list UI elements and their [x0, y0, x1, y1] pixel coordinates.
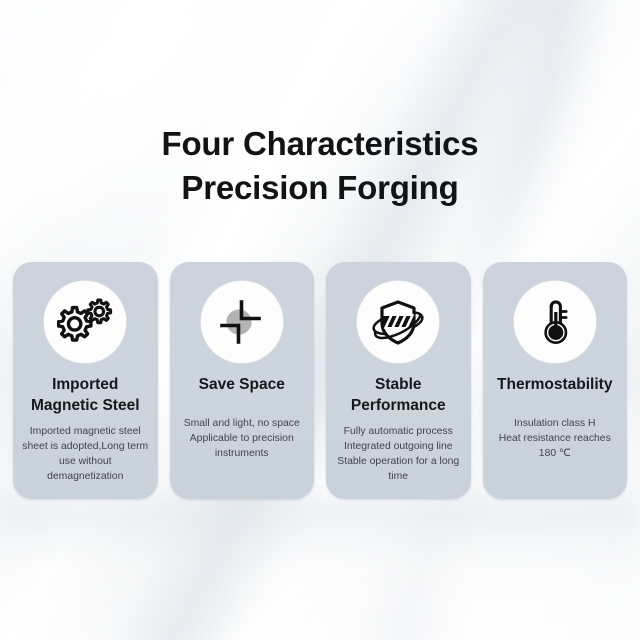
icon-badge [514, 281, 596, 363]
page-title: Four Characteristics Precision Forging [0, 122, 640, 209]
feature-card-save-space[interactable]: Save Space Small and light, no space App… [170, 262, 315, 499]
icon-badge [357, 281, 439, 363]
background-shadow-band [0, 498, 640, 640]
feature-card-stable-performance[interactable]: Stable Performance Fully automatic proce… [326, 262, 471, 499]
card-description: Imported magnetic steel sheet is adopted… [13, 424, 158, 485]
card-title: Save Space [193, 375, 291, 396]
card-title: Thermostability [491, 375, 618, 396]
shield-orbit-icon [368, 296, 428, 348]
feature-poster: Four Characteristics Precision Forging [0, 0, 640, 640]
page-title-line-2: Precision Forging [0, 166, 640, 210]
thermometer-icon [527, 296, 583, 348]
icon-badge [201, 281, 283, 363]
feature-card-list: Imported Magnetic Steel Imported magneti… [13, 262, 627, 499]
gears-icon [57, 296, 113, 348]
compress-space-icon [214, 296, 270, 348]
page-title-line-1: Four Characteristics [162, 125, 479, 162]
card-description: Small and light, no space Applicable to … [177, 416, 307, 462]
card-title: Imported Magnetic Steel [13, 375, 158, 417]
feature-card-imported-magnetic-steel[interactable]: Imported Magnetic Steel Imported magneti… [13, 262, 158, 499]
feature-card-thermostability[interactable]: Thermostability Insulation class H Heat … [483, 262, 628, 499]
card-description: Fully automatic process Integrated outgo… [326, 424, 471, 485]
icon-badge [44, 281, 126, 363]
card-description: Insulation class H Heat resistance reach… [483, 416, 628, 462]
card-title: Stable Performance [326, 375, 471, 417]
